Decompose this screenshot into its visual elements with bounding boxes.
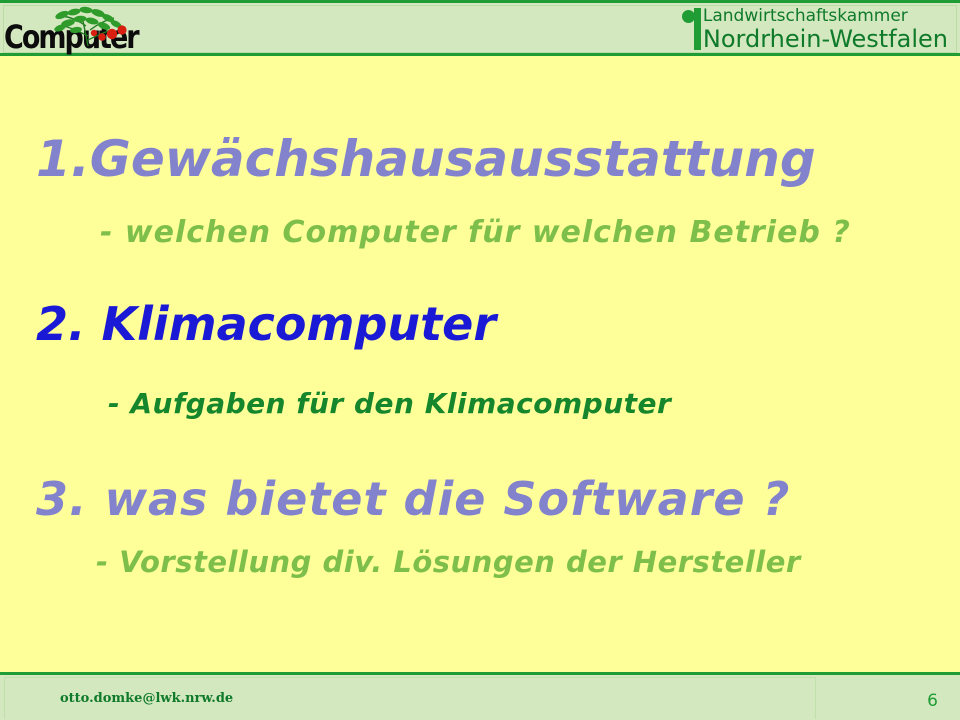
footer-email: otto.domke@lwk.nrw.de [60,691,233,706]
lwk-text: Landwirtschaftskammer Nordrhein-Westfale… [703,7,948,52]
slide-root: Computer [0,0,960,720]
lwk-line-landwirtschaftskammer: Landwirtschaftskammer [703,7,948,26]
agenda-sub-1: - welchen Computer für welchen Betrieb ? [100,218,851,248]
lwk-mark-icon [682,7,701,51]
footer-page-number: 6 [927,691,938,711]
slide-content: 1.Gewächshausausstattung - welchen Compu… [0,56,960,672]
agenda-heading-2: 2. Klimacomputer [36,301,496,347]
footer-band: otto.domke@lwk.nrw.de 6 [0,672,960,720]
lwk-line-nordrhein-westfalen: Nordrhein-Westfalen [703,26,948,52]
tomato-plant-icon [40,6,136,48]
agenda-sub-3: - Vorstellung div. Lösungen der Herstell… [96,548,801,577]
logo-computer: Computer [4,6,194,56]
lwk-bar-icon [694,8,701,50]
agenda-sub-2: - Aufgaben für den Klimacomputer [108,390,671,418]
agenda-heading-1: 1.Gewächshausausstattung [36,134,816,184]
header-band: Computer [0,0,960,56]
agenda-heading-3: 3. was bietet die Software ? [36,476,790,522]
logo-landwirtschaftskammer-nrw: Landwirtschaftskammer Nordrhein-Westfale… [682,7,948,53]
